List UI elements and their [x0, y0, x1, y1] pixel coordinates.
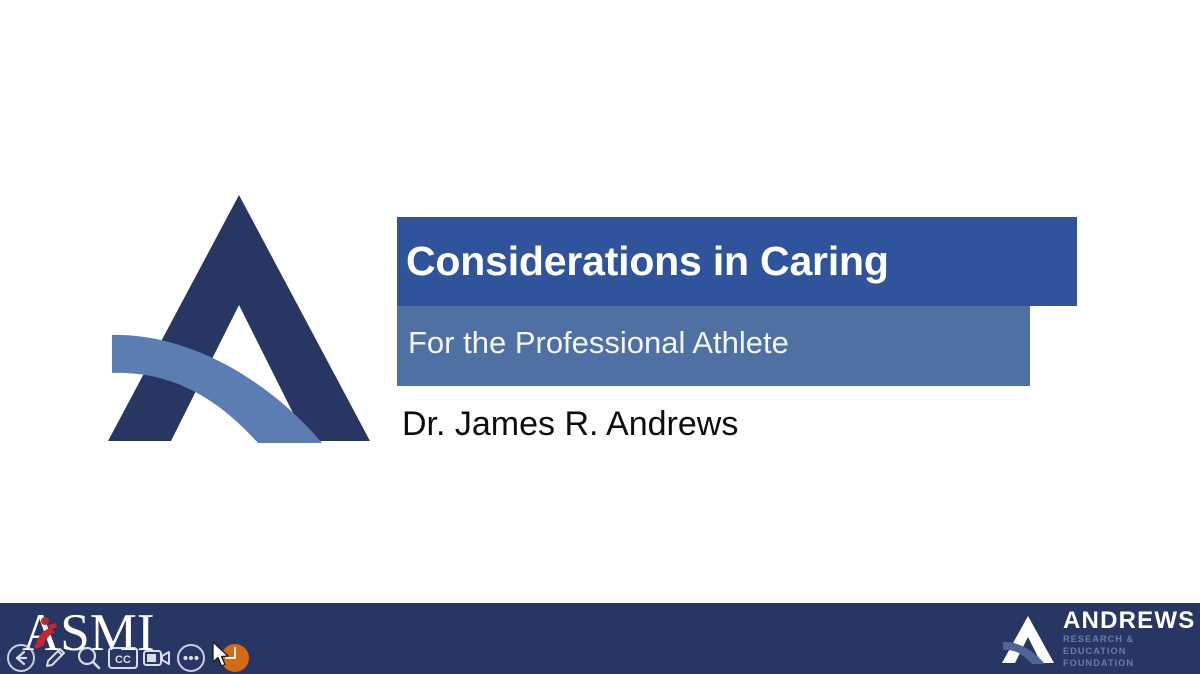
record-icon — [220, 643, 250, 673]
pen-button[interactable] — [38, 642, 71, 673]
back-arrow-icon — [6, 643, 36, 673]
more-button[interactable] — [174, 642, 207, 673]
video-camera-icon — [141, 645, 173, 671]
slide-subtitle: For the Professional Athlete — [397, 306, 789, 361]
video-button[interactable] — [140, 642, 173, 673]
ellipsis-icon — [176, 643, 206, 673]
player-controls-toolbar[interactable]: CC — [4, 641, 250, 674]
andrews-footer-logo: ANDREWS RESEARCH & EDUCATION FOUNDATION — [1002, 611, 1192, 667]
pen-icon — [40, 643, 70, 673]
back-button[interactable] — [4, 642, 37, 673]
andrews-a-logo-icon — [108, 193, 370, 443]
svg-text:CC: CC — [115, 654, 131, 666]
andrews-a-mark-icon — [1002, 614, 1054, 664]
andrews-tagline-line2: FOUNDATION — [1063, 657, 1195, 669]
slide-subtitle-banner: For the Professional Athlete — [397, 306, 1030, 386]
captions-button[interactable]: CC — [106, 642, 139, 673]
andrews-wordmark: ANDREWS RESEARCH & EDUCATION FOUNDATION — [1063, 609, 1195, 670]
andrews-tagline-line1: RESEARCH & EDUCATION — [1063, 633, 1195, 657]
andrews-name: ANDREWS — [1063, 609, 1195, 633]
slide-title-banner: Considerations in Caring — [397, 217, 1077, 306]
zoom-button[interactable] — [72, 642, 105, 673]
slide-canvas: Considerations in Caring For the Profess… — [0, 0, 1200, 603]
cc-icon: CC — [107, 645, 139, 671]
magnifier-icon — [74, 643, 104, 673]
presentation-slide-viewer: Considerations in Caring For the Profess… — [0, 0, 1200, 674]
presenter-name: Dr. James R. Andrews — [402, 405, 738, 444]
slide-title: Considerations in Caring — [397, 238, 889, 285]
record-button[interactable] — [220, 643, 250, 673]
